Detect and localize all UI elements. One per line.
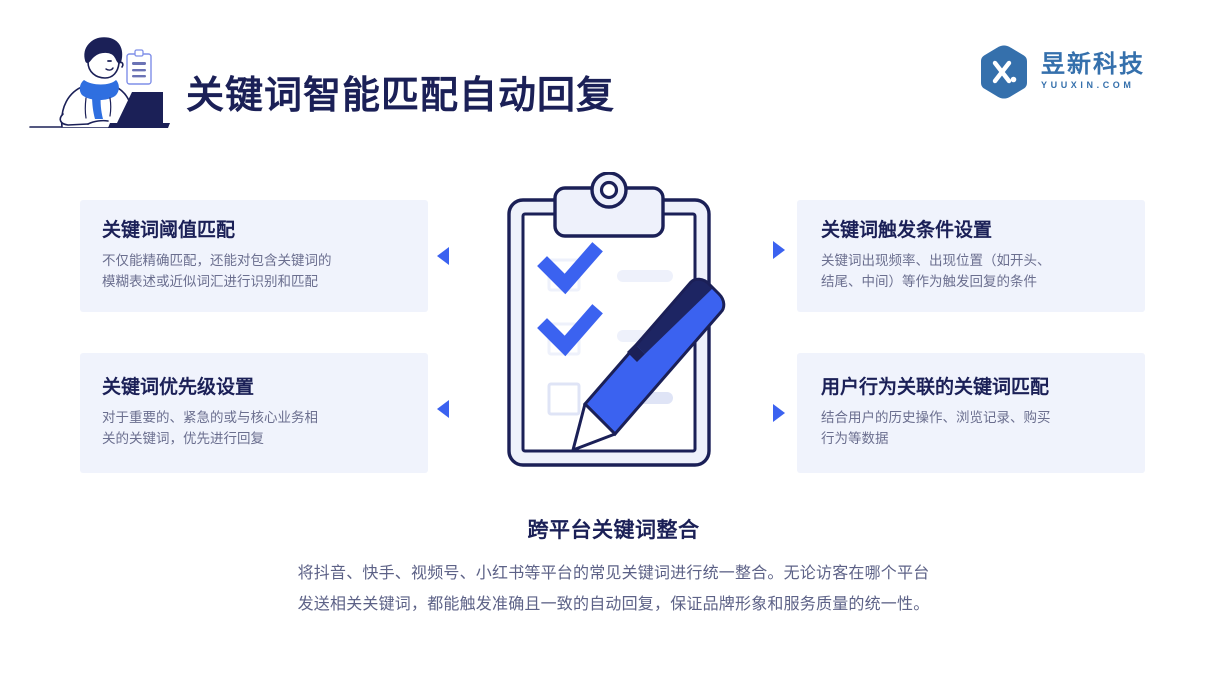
arrow-right-icon <box>773 404 785 422</box>
brand-logo: 昱新科技 YUUXIN.COM <box>978 44 1145 100</box>
card-description: 结合用户的历史操作、浏览记录、购买 行为等数据 <box>821 408 1125 450</box>
footer-line: 将抖音、快手、视频号、小红书等平台的常见关键词进行统一整合。无论访客在哪个平台 <box>0 558 1227 589</box>
card-desc-line: 结合用户的历史操作、浏览记录、购买 <box>821 408 1125 429</box>
arrow-right-icon <box>773 241 785 259</box>
card-desc-line: 结尾、中间）等作为触发回复的条件 <box>821 272 1125 293</box>
card-desc-line: 关键词出现频率、出现位置（如开头、 <box>821 251 1125 272</box>
card-desc-line: 行为等数据 <box>821 429 1125 450</box>
footer-title: 跨平台关键词整合 <box>0 514 1227 544</box>
footer: 跨平台关键词整合 将抖音、快手、视频号、小红书等平台的常见关键词进行统一整合。无… <box>0 514 1227 620</box>
card-keyword-threshold-matching[interactable]: 关键词阈值匹配 不仅能精确匹配，还能对包含关键词的 模糊表述或近似词汇进行识别和… <box>80 200 428 312</box>
arrow-left-icon <box>437 247 449 265</box>
card-description: 关键词出现频率、出现位置（如开头、 结尾、中间）等作为触发回复的条件 <box>821 251 1125 293</box>
card-title: 关键词优先级设置 <box>102 376 408 401</box>
page-title: 关键词智能匹配自动回复 <box>186 64 615 119</box>
small-document-icon <box>127 50 151 84</box>
card-description: 对于重要的、紧急的或与核心业务相 关的关键词，优先进行回复 <box>102 408 408 450</box>
brand-domain: YUUXIN.COM <box>1041 80 1145 92</box>
header: 关键词智能匹配自动回复 昱新科技 YUUXIN.COM <box>0 0 1227 150</box>
clipboard-checklist-with-pen-illustration <box>495 172 735 477</box>
card-title: 用户行为关联的关键词匹配 <box>821 376 1125 401</box>
card-title: 关键词触发条件设置 <box>821 219 1125 244</box>
card-desc-line: 模糊表述或近似词汇进行识别和匹配 <box>102 272 408 293</box>
card-desc-line: 不仅能精确匹配，还能对包含关键词的 <box>102 251 408 272</box>
yuuxin-hexagon-logo-icon <box>978 44 1030 100</box>
card-keyword-priority-settings[interactable]: 关键词优先级设置 对于重要的、紧急的或与核心业务相 关的关键词，优先进行回复 <box>80 353 428 473</box>
card-description: 不仅能精确匹配，还能对包含关键词的 模糊表述或近似词汇进行识别和匹配 <box>102 251 408 293</box>
card-desc-line: 对于重要的、紧急的或与核心业务相 <box>102 408 408 429</box>
infographic-page: 关键词智能匹配自动回复 昱新科技 YUUXIN.COM 关键词阈值匹配 不仅能精… <box>0 0 1227 678</box>
footer-line: 发送相关关键词，都能触发准确且一致的自动回复，保证品牌形象和服务质量的统一性。 <box>0 589 1227 620</box>
arrow-left-icon <box>437 400 449 418</box>
card-title: 关键词阈值匹配 <box>102 219 408 244</box>
card-user-behavior-keyword-matching[interactable]: 用户行为关联的关键词匹配 结合用户的历史操作、浏览记录、购买 行为等数据 <box>797 353 1145 473</box>
card-keyword-trigger-condition-settings[interactable]: 关键词触发条件设置 关键词出现频率、出现位置（如开头、 结尾、中间）等作为触发回… <box>797 200 1145 312</box>
brand-name: 昱新科技 <box>1041 52 1145 78</box>
card-desc-line: 关的关键词，优先进行回复 <box>102 429 408 450</box>
person-working-on-laptop-illustration <box>22 20 192 140</box>
